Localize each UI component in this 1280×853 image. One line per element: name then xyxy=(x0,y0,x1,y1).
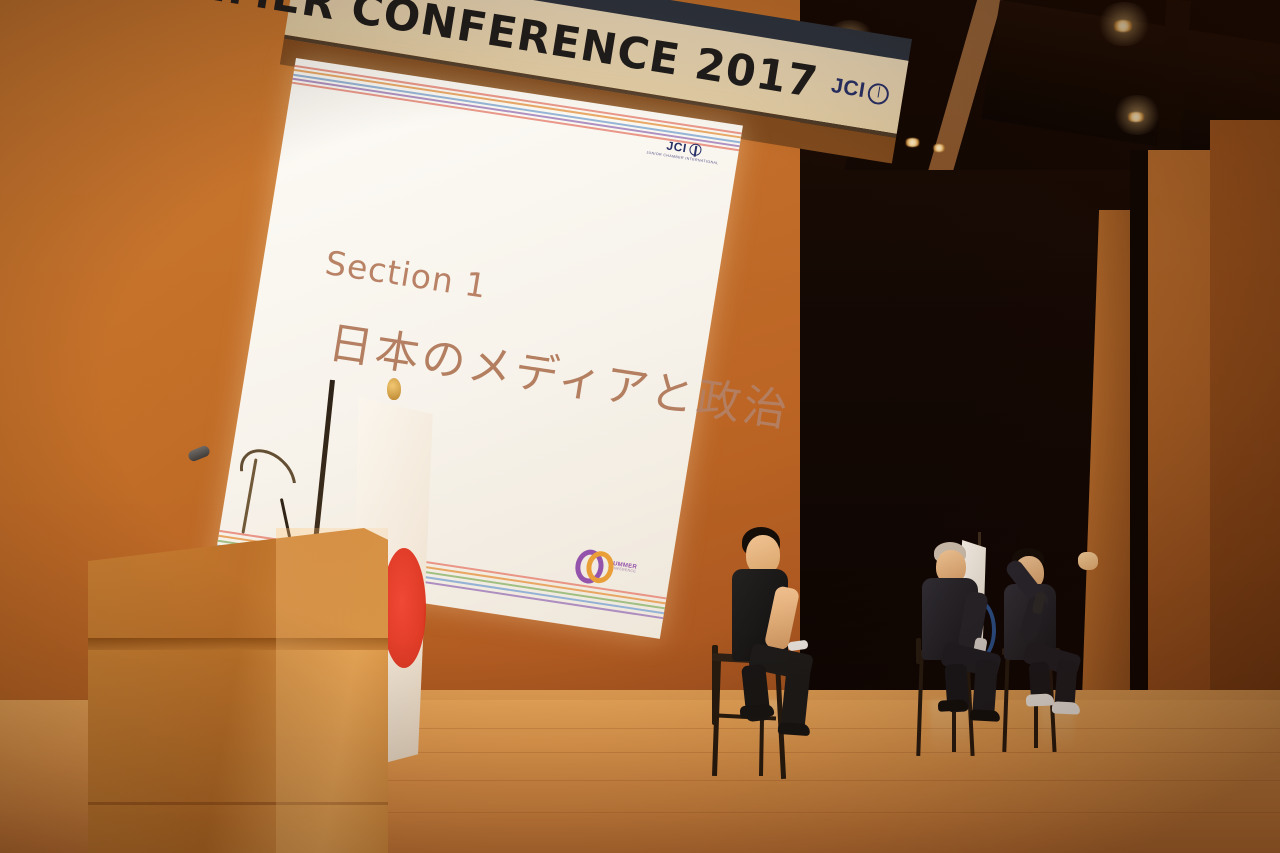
ceiling-downlight xyxy=(932,144,946,152)
right-wall-panel xyxy=(1148,150,1218,750)
panelist-right-shoe xyxy=(1026,693,1055,706)
panelist-right-hand xyxy=(1078,552,1098,570)
panelist-right-shoe xyxy=(1052,701,1081,714)
slide-jci-text: JCI xyxy=(666,139,688,156)
jci-logo: JCI xyxy=(829,74,890,107)
handheld-microphone xyxy=(787,640,808,652)
panelist-right xyxy=(1000,548,1150,763)
ceiling-downlight xyxy=(1126,112,1146,122)
globe-icon xyxy=(689,143,703,157)
podium-side-panel xyxy=(276,528,388,853)
slide-section-label: Section 1 xyxy=(323,243,491,306)
panelist-left xyxy=(700,525,880,795)
panelist-center-shoe xyxy=(970,709,1001,722)
summer-conference-logo: SUMMER CONFERENCE xyxy=(574,548,639,583)
globe-icon xyxy=(866,81,890,105)
panelist-left-shoe xyxy=(740,704,775,718)
podium xyxy=(88,528,388,853)
jci-logo-text: JCI xyxy=(829,74,867,103)
swirl-icon xyxy=(574,548,608,578)
ceiling-downlight xyxy=(904,138,921,147)
flag-red-disc xyxy=(382,548,426,668)
conference-stage-photo: SUMMER CONFERENCE 2017 JCI JCI xyxy=(0,0,1280,853)
flag-finial xyxy=(387,378,401,400)
panelist-left-shoe xyxy=(778,722,811,736)
panelist-center-shoe xyxy=(938,699,969,712)
ceiling-downlight xyxy=(1112,20,1134,32)
